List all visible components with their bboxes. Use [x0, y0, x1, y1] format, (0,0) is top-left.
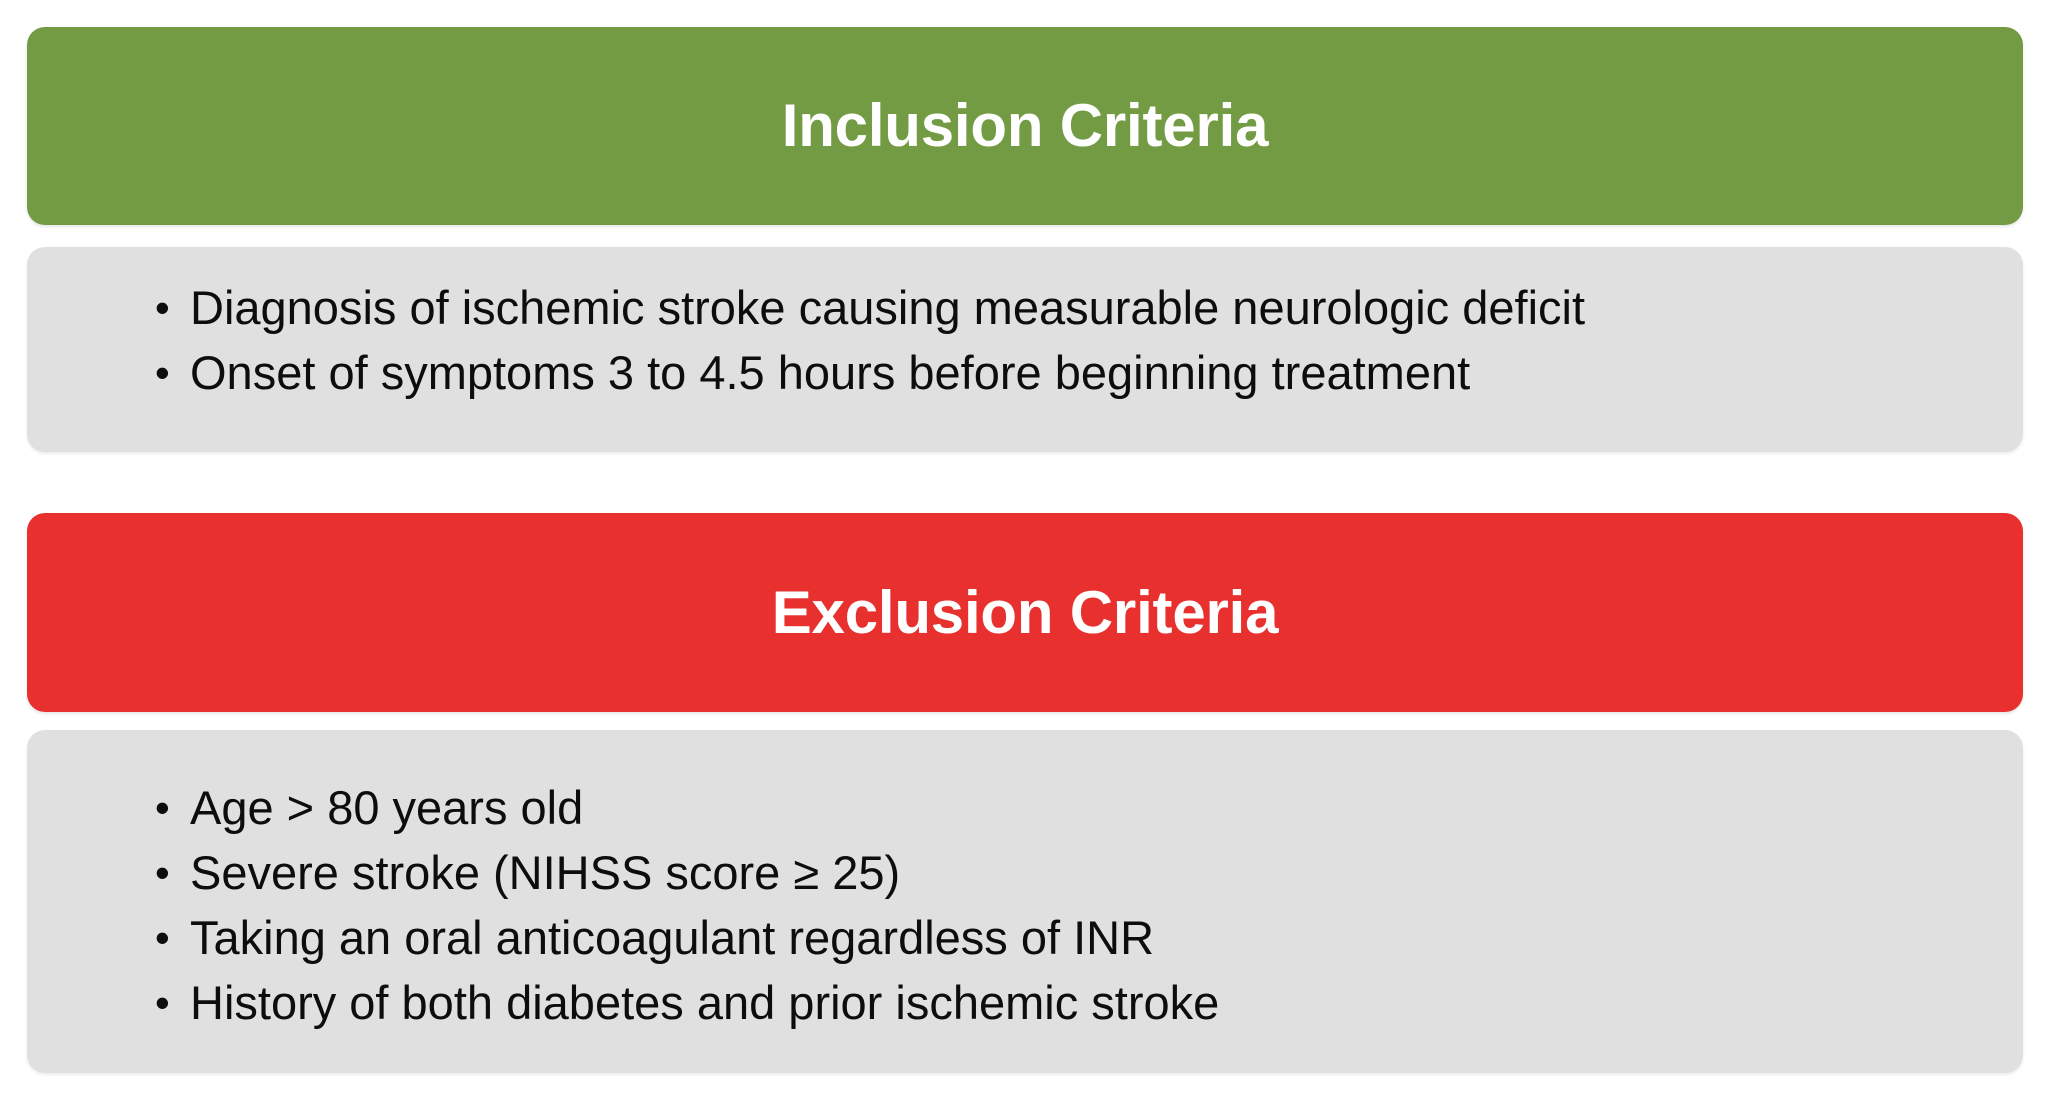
exclusion-criteria-body: • Age > 80 years old • Severe stroke (NI…	[27, 730, 2023, 1073]
bullet-icon: •	[155, 275, 173, 340]
criteria-slide: Inclusion Criteria • Diagnosis of ischem…	[0, 0, 2048, 1103]
inclusion-criteria-header: Inclusion Criteria	[27, 27, 2023, 225]
list-item-label: Severe stroke (NIHSS score ≥ 25)	[190, 846, 900, 899]
list-item-label: Taking an oral anticoagulant regardless …	[190, 911, 1154, 964]
list-item: • Age > 80 years old	[135, 775, 2023, 840]
list-item-label: Age > 80 years old	[190, 781, 583, 834]
list-item: • Severe stroke (NIHSS score ≥ 25)	[135, 840, 2023, 905]
exclusion-criteria-list: • Age > 80 years old • Severe stroke (NI…	[135, 775, 2023, 1035]
list-item: • Taking an oral anticoagulant regardles…	[135, 905, 2023, 970]
list-item-label: Diagnosis of ischemic stroke causing mea…	[190, 281, 1585, 334]
inclusion-criteria-list: • Diagnosis of ischemic stroke causing m…	[135, 275, 2023, 405]
inclusion-criteria-title: Inclusion Criteria	[782, 96, 1269, 156]
list-item: • History of both diabetes and prior isc…	[135, 970, 2023, 1035]
bullet-icon: •	[155, 840, 173, 905]
list-item: • Onset of symptoms 3 to 4.5 hours befor…	[135, 340, 2023, 405]
bullet-icon: •	[155, 340, 173, 405]
bullet-icon: •	[155, 970, 173, 1035]
exclusion-criteria-header: Exclusion Criteria	[27, 513, 2023, 712]
list-item-label: History of both diabetes and prior ische…	[190, 976, 1219, 1029]
bullet-icon: •	[155, 775, 173, 840]
inclusion-criteria-body: • Diagnosis of ischemic stroke causing m…	[27, 247, 2023, 452]
exclusion-criteria-title: Exclusion Criteria	[772, 583, 1279, 643]
list-item: • Diagnosis of ischemic stroke causing m…	[135, 275, 2023, 340]
list-item-label: Onset of symptoms 3 to 4.5 hours before …	[190, 346, 1470, 399]
bullet-icon: •	[155, 905, 173, 970]
